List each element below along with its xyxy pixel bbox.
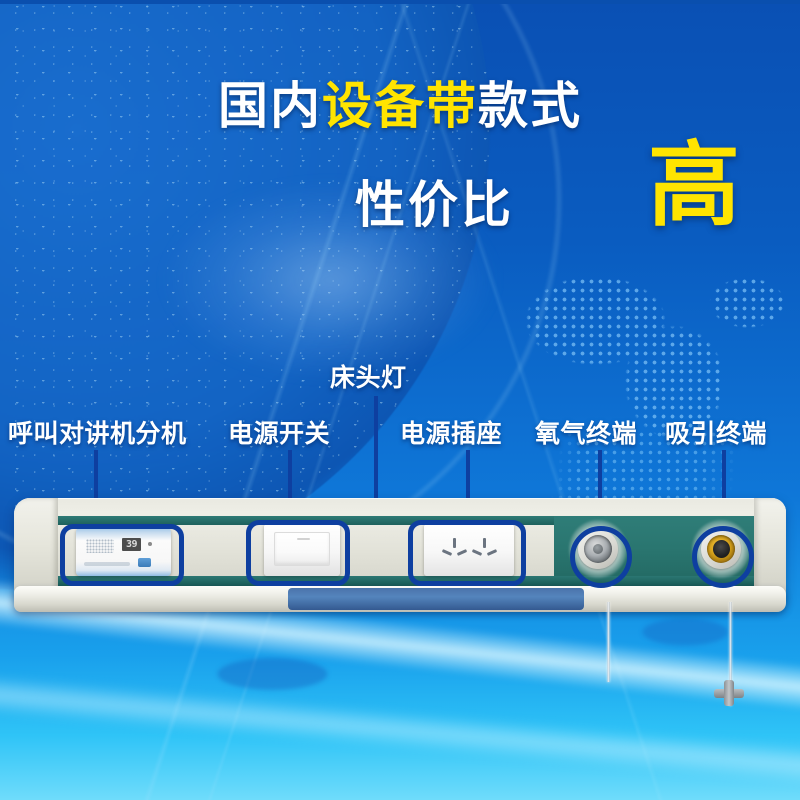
cord-weight-hook[interactable] bbox=[714, 680, 744, 706]
highlight-box-power-switch bbox=[246, 520, 350, 586]
headline-block: 国内设备带款式 bbox=[0, 78, 800, 134]
callout-label-bed-lamp: 床头灯 bbox=[330, 358, 407, 394]
headline-line-1: 国内设备带款式 bbox=[0, 78, 800, 134]
headline-part-3: 款式 bbox=[478, 78, 582, 134]
headline-emphasis-character: 高 bbox=[648, 140, 740, 232]
cord-weight-vertical bbox=[724, 680, 734, 706]
rail-blue-strip bbox=[288, 588, 584, 610]
highlight-box-intercom bbox=[60, 524, 184, 586]
callout-label-suction-terminal: 吸引终端 bbox=[665, 414, 767, 450]
oxygen-cord bbox=[607, 602, 610, 682]
poster-canvas: 国内设备带款式 性价比 高 呼叫对讲机分机 电源开关 床头灯 电源插座 氧气终端… bbox=[0, 0, 800, 800]
highlight-ring-oxygen bbox=[570, 526, 632, 588]
headline-part-1: 国内 bbox=[218, 78, 322, 134]
horizon-beam-secondary bbox=[0, 660, 800, 800]
highlight-ring-suction bbox=[692, 526, 754, 588]
headline-part-2: 设备带 bbox=[322, 78, 478, 134]
highlight-box-power-socket bbox=[408, 520, 526, 586]
headline-line-2: 性价比 bbox=[355, 165, 585, 237]
callout-label-intercom: 呼叫对讲机分机 bbox=[8, 414, 187, 450]
top-edge-bar bbox=[0, 0, 800, 4]
callout-label-oxygen-terminal: 氧气终端 bbox=[535, 414, 637, 450]
callout-label-power-switch: 电源开关 bbox=[228, 414, 330, 450]
callout-label-power-socket: 电源插座 bbox=[400, 414, 502, 450]
